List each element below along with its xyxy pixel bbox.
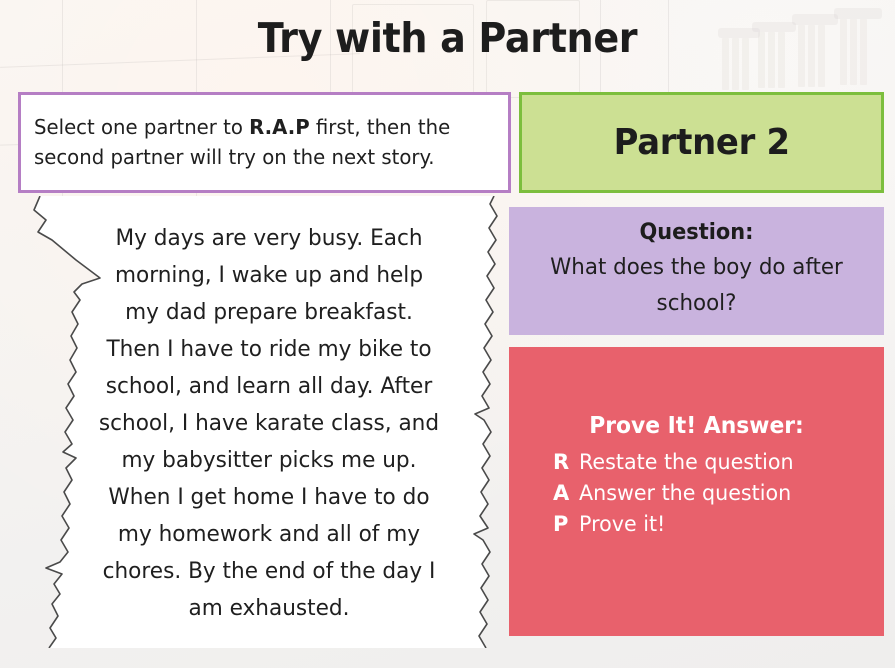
question-heading: Question:	[534, 217, 860, 249]
instruction-text: Select one partner to R.A.P first, then …	[34, 112, 477, 172]
story-panel: My days are very busy. Each morning, I w…	[16, 196, 508, 648]
rap-letter: A	[553, 478, 579, 509]
answer-panel: Prove It! Answer: R Restate the question…	[509, 347, 884, 636]
answer-heading: Prove It! Answer:	[518, 409, 874, 443]
partner-header-box: Partner 2	[519, 92, 884, 193]
story-text: My days are very busy. Each morning, I w…	[97, 220, 441, 627]
rap-letter: R	[553, 447, 579, 478]
instruction-box: Select one partner to R.A.P first, then …	[18, 92, 511, 193]
partner-header-label: Partner 2	[613, 122, 789, 163]
question-body: What does the boy do after school?	[534, 249, 860, 321]
slide-canvas: Try with a Partner Select one partner to…	[0, 0, 895, 668]
list-item: R Restate the question	[553, 447, 884, 478]
list-item: P Prove it!	[553, 509, 884, 540]
rap-list: R Restate the question A Answer the ques…	[509, 447, 884, 540]
rap-text: Restate the question	[579, 447, 794, 478]
page-title: Try with a Partner	[31, 14, 863, 62]
list-item: A Answer the question	[553, 478, 884, 509]
question-panel: Question: What does the boy do after sch…	[509, 207, 884, 335]
rap-letter: P	[553, 509, 579, 540]
rap-text: Answer the question	[579, 478, 791, 509]
instruction-text-before: Select one partner to	[34, 115, 249, 139]
rap-text: Prove it!	[579, 509, 665, 540]
instruction-emphasis: R.A.P	[249, 115, 309, 139]
